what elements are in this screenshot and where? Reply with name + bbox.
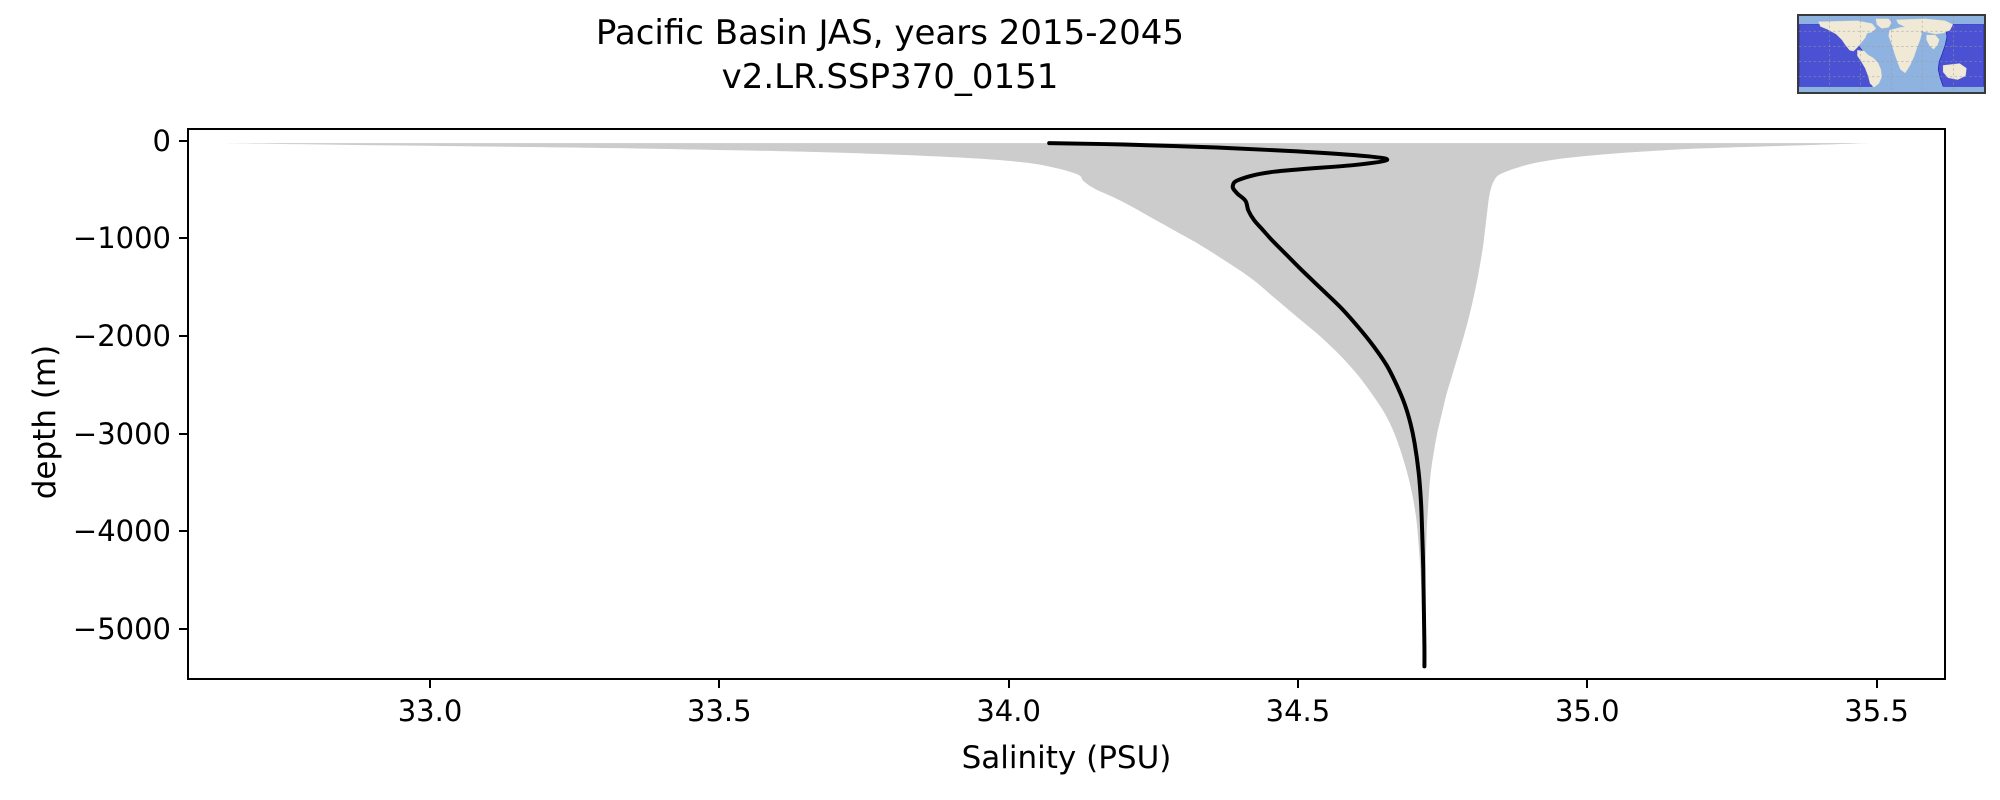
y-tick-mark <box>179 335 187 337</box>
y-tick-mark <box>179 433 187 435</box>
profile-plot <box>189 130 1944 678</box>
y-tick-label: 0 <box>153 124 171 158</box>
x-tick-label: 34.5 <box>1218 694 1378 728</box>
x-tick-mark <box>718 680 720 688</box>
y-tick-mark <box>179 628 187 630</box>
plot-axes <box>187 128 1946 680</box>
y-tick-mark <box>179 237 187 239</box>
x-tick-label: 33.0 <box>350 694 510 728</box>
x-tick-label: 33.5 <box>639 694 799 728</box>
x-tick-mark <box>1008 680 1010 688</box>
x-axis-label: Salinity (PSU) <box>187 740 1946 776</box>
y-tick-label: −2000 <box>73 319 171 353</box>
x-tick-label: 35.0 <box>1507 694 1667 728</box>
x-tick-label: 35.5 <box>1797 694 1957 728</box>
y-tick-label: −4000 <box>73 514 171 548</box>
x-tick-mark <box>1586 680 1588 688</box>
x-tick-mark <box>1297 680 1299 688</box>
y-tick-mark <box>179 140 187 142</box>
chart-title-line-1: Pacific Basin JAS, years 2015-2045 <box>0 12 1780 56</box>
chart-title: Pacific Basin JAS, years 2015-2045 v2.LR… <box>0 12 1780 99</box>
figure-canvas: Pacific Basin JAS, years 2015-2045 v2.LR… <box>0 0 2000 800</box>
chart-title-line-2: v2.LR.SSP370_0151 <box>0 56 1780 100</box>
y-tick-label: −3000 <box>73 417 171 451</box>
x-tick-label: 34.0 <box>929 694 1089 728</box>
x-tick-mark <box>429 680 431 688</box>
x-tick-mark <box>1876 680 1878 688</box>
y-tick-label: −5000 <box>73 612 171 646</box>
world-map-icon <box>1799 16 1984 92</box>
y-tick-label: −1000 <box>73 221 171 255</box>
pacific-basin-map-inset <box>1797 14 1986 94</box>
y-axis-label: depth (m) <box>27 222 63 622</box>
y-tick-mark <box>179 530 187 532</box>
salinity-range-band <box>218 143 1869 666</box>
